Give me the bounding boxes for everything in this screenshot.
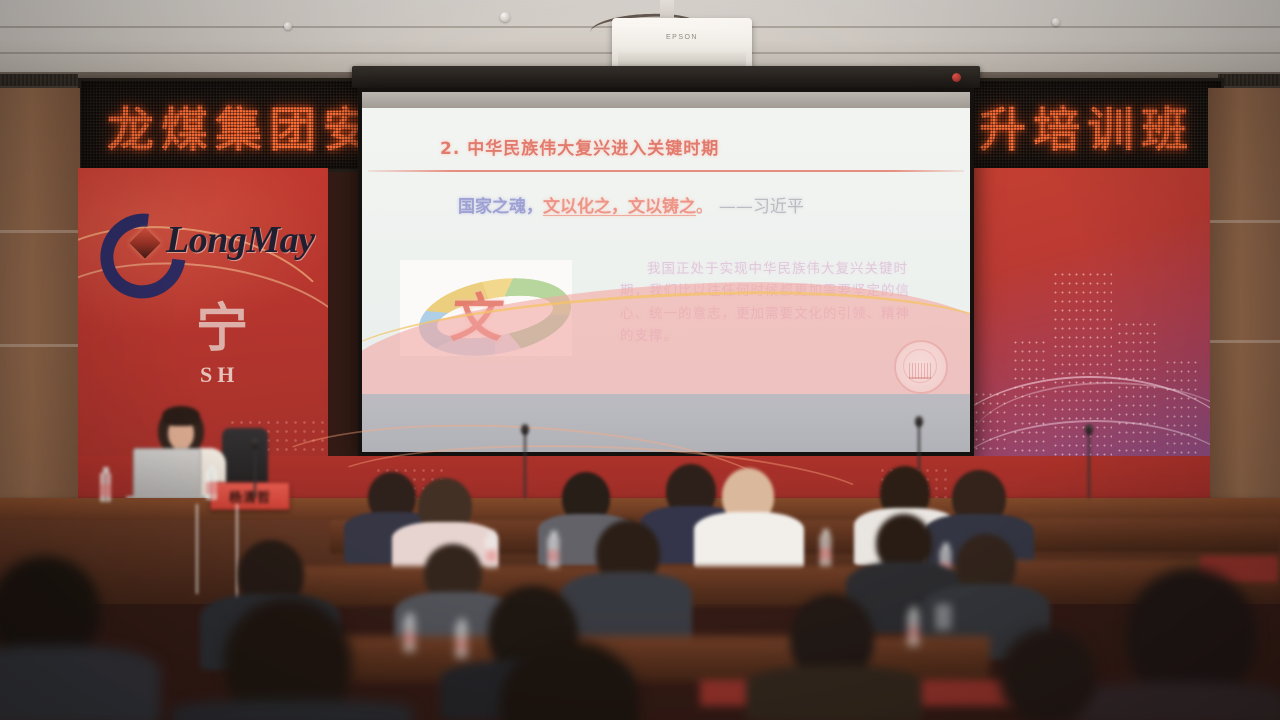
quote-part-red: 文以化之，文以铸之 bbox=[543, 197, 696, 217]
presentation-slide: 2. 中华民族伟大复兴进入关键时期 国家之魂，文以化之，文以铸之。 ——习近平 … bbox=[362, 108, 970, 452]
lecture-hall-scene: EPSON 龙煤集团安 升培训班 LongMay 宁 SH bbox=[0, 0, 1280, 720]
slide-title-divider bbox=[368, 170, 964, 172]
sprinkler-icon bbox=[284, 22, 292, 30]
water-bottle bbox=[820, 534, 831, 566]
backdrop-panel-right bbox=[960, 168, 1210, 498]
projector: EPSON bbox=[612, 18, 752, 68]
slide-title: 2. 中华民族伟大复兴进入关键时期 bbox=[440, 134, 719, 159]
longmay-logo: LongMay bbox=[100, 212, 340, 274]
longmay-wordmark: LongMay bbox=[166, 218, 315, 262]
microphone-stem bbox=[524, 432, 526, 498]
projection-screen-top-band bbox=[362, 92, 970, 108]
led-banner-text-left: 龙煤集团安 bbox=[107, 91, 377, 160]
projection-screen-case bbox=[352, 66, 980, 88]
ceiling-light-strip-left bbox=[0, 74, 78, 86]
led-banner-text-right: 升培训班 bbox=[979, 91, 1195, 160]
microphone-head bbox=[251, 438, 259, 449]
quote-comma: ， bbox=[526, 197, 543, 217]
water-bottle bbox=[908, 612, 919, 646]
sprinkler-icon bbox=[1052, 18, 1060, 26]
microphone-head bbox=[915, 416, 923, 427]
microphone-stem bbox=[254, 446, 256, 498]
ceiling-light-strip-right bbox=[1218, 74, 1280, 86]
microphone-head bbox=[1085, 424, 1093, 435]
water-bottle bbox=[456, 624, 467, 658]
water-bottle bbox=[206, 470, 217, 500]
quote-part-blue: 国家之魂 bbox=[458, 197, 526, 217]
microphone-stem bbox=[1088, 432, 1090, 498]
quote-period: 。 bbox=[696, 197, 713, 217]
presenter-laptop bbox=[133, 448, 201, 502]
institution-emblem-icon bbox=[894, 340, 948, 394]
quote-attribution: ——习近平 bbox=[719, 197, 804, 217]
wood-panel-right bbox=[1208, 88, 1280, 558]
smoke-detector-icon bbox=[500, 12, 510, 22]
water-bottle bbox=[486, 536, 497, 568]
backdrop-en-text: SH bbox=[200, 362, 239, 388]
backdrop-cn-text: 宁 bbox=[196, 286, 252, 361]
projector-brand-label: EPSON bbox=[612, 34, 752, 41]
slide-quote: 国家之魂，文以化之，文以铸之。 ——习近平 bbox=[458, 192, 804, 217]
water-bottle bbox=[548, 536, 559, 568]
water-bottle bbox=[100, 472, 111, 502]
water-bottle bbox=[404, 618, 415, 652]
wood-panel-left bbox=[0, 88, 80, 558]
drinking-glass bbox=[936, 604, 951, 630]
presenter-hair bbox=[162, 406, 200, 426]
microphone-head bbox=[521, 424, 529, 435]
